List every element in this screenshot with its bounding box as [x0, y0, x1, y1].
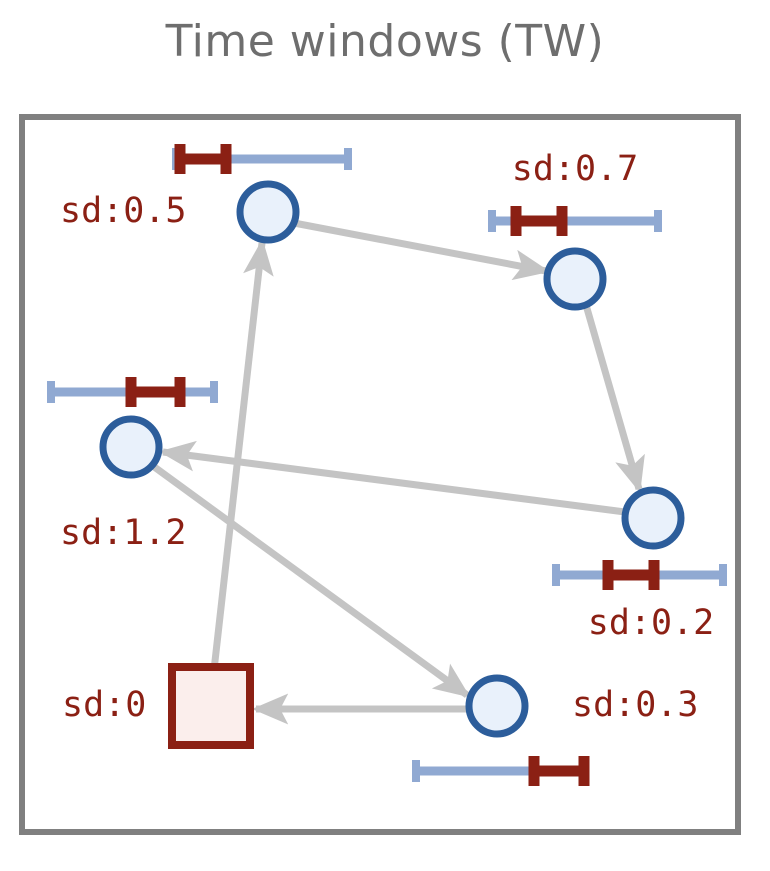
customer-node-n4[interactable]	[103, 419, 159, 475]
customer-node-n1[interactable]	[240, 184, 296, 240]
customer-node-n5[interactable]	[469, 678, 525, 734]
service-duration-label-n4: sd:1.2	[60, 513, 186, 553]
route-diagram: sd:0sd:0.5sd:0.7sd:0.2sd:1.2sd:0.3	[0, 0, 770, 871]
service-duration-label-n5: sd:0.3	[572, 685, 698, 725]
route-edge-n2-to-n3	[586, 305, 639, 489]
service-duration-label-n3: sd:0.2	[588, 603, 714, 643]
service-duration-label-n2: sd:0.7	[512, 149, 638, 189]
route-nodes	[103, 184, 681, 745]
time-window-bar-n2	[492, 206, 658, 236]
service-duration-label-depot: sd:0	[62, 685, 146, 725]
time-window-bar-n1	[176, 144, 348, 174]
route-edge-n4-to-n5	[153, 466, 467, 695]
service-duration-label-n1: sd:0.5	[60, 191, 186, 231]
customer-node-n2[interactable]	[547, 251, 603, 307]
depot-node[interactable]	[172, 667, 250, 745]
route-edge-n1-to-n2	[294, 223, 546, 271]
time-window-bar-n5	[416, 756, 584, 786]
time-window-bar-n4	[51, 377, 214, 407]
time-window-bar-n3	[556, 560, 723, 590]
customer-node-n3[interactable]	[625, 490, 681, 546]
figure-canvas: Time windows (TW) sd:0sd:0.5sd:0.7sd:0.2…	[0, 0, 770, 871]
